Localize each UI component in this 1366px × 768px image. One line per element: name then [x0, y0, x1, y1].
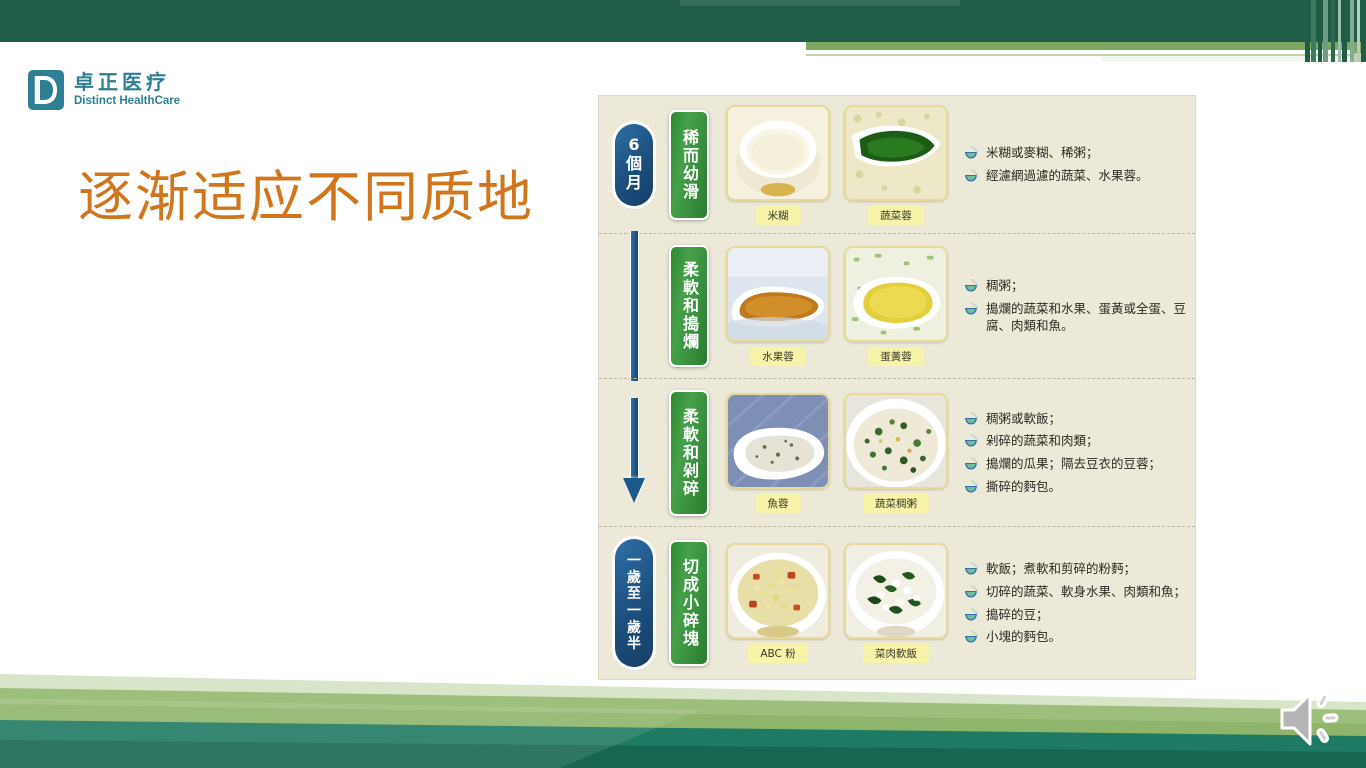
mortar-pestle-icon — [964, 608, 979, 621]
photo-caption: 魚蓉 — [756, 494, 801, 513]
row-rail — [599, 379, 669, 526]
row-rail: 一 歲 至 一 歲 半 — [599, 527, 669, 679]
vegetable-puree-photo — [844, 105, 948, 201]
photo-caption: 蛋黃蓉 — [868, 347, 924, 366]
mortar-pestle-icon — [964, 279, 979, 292]
mortar-pestle-icon — [964, 412, 979, 425]
mortar-pestle-icon — [964, 562, 979, 575]
top-band-notch-left — [0, 42, 806, 50]
progression-arrow-icon — [624, 231, 644, 381]
bullet-list: 稠粥或軟飯； 剁碎的蔬菜和肉類； 搗爛的瓜果；隔去豆衣的豆蓉； 撕碎的麪包。 — [948, 410, 1195, 496]
age-char: 月 — [626, 174, 642, 193]
bullet-item: 軟飯；煮軟和剪碎的粉麪； — [964, 560, 1187, 578]
chart-row: 6 個 月 稀而幼滑 米糊 — [599, 96, 1195, 233]
speaker-audio-icon[interactable] — [1268, 686, 1346, 752]
mortar-pestle-icon — [964, 434, 979, 447]
age-char: 歲 — [627, 570, 641, 587]
bullet-item: 搗爛的瓜果；隔去豆衣的豆蓉； — [964, 455, 1187, 473]
photo-cell: 米糊 — [726, 105, 830, 225]
bullet-text: 搗碎的豆； — [986, 606, 1049, 624]
right-edge-stripes — [1300, 0, 1366, 62]
bullet-item: 切碎的蔬菜、軟身水果、肉類和魚； — [964, 583, 1187, 601]
age-char: 6 — [628, 136, 639, 155]
vegetable-meat-soft-rice-photo — [844, 543, 948, 639]
top-band-highlight — [680, 0, 960, 6]
photo-group: 魚蓉 — [726, 393, 948, 513]
chart-row: 一 歲 至 一 歲 半 切成小碎塊 — [599, 526, 1195, 679]
bullet-text: 切碎的蔬菜、軟身水果、肉類和魚； — [986, 583, 1186, 601]
bottom-decorative-bands — [0, 658, 1366, 768]
age-char: 歲 — [627, 620, 641, 637]
vegetable-congee-photo — [844, 393, 948, 489]
feeding-texture-chart: 6 個 月 稀而幼滑 米糊 — [598, 95, 1196, 680]
bullet-item: 經濾網過濾的蔬菜、水果蓉。 — [964, 167, 1187, 185]
bullet-item: 米糊或麥糊、稀粥； — [964, 144, 1187, 162]
photo-cell: ABC 粉 — [726, 543, 830, 663]
bullet-item: 搗爛的蔬菜和水果、蛋黃或全蛋、豆腐、肉類和魚。 — [964, 300, 1187, 336]
bullet-list: 軟飯；煮軟和剪碎的粉麪； 切碎的蔬菜、軟身水果、肉類和魚； 搗碎的豆； 小塊的麪… — [948, 560, 1195, 646]
bullet-item: 稠粥； — [964, 277, 1187, 295]
bullet-text: 稠粥； — [986, 277, 1024, 295]
bullet-text: 經濾網過濾的蔬菜、水果蓉。 — [986, 167, 1149, 185]
mortar-pestle-icon — [964, 146, 979, 159]
photo-group: 米糊 蔬菜蓉 — [726, 105, 948, 225]
photo-caption: 蔬菜蓉 — [868, 206, 924, 225]
fruit-puree-spoon-photo — [726, 246, 830, 342]
bullet-text: 米糊或麥糊、稀粥； — [986, 144, 1099, 162]
mortar-pestle-icon — [964, 480, 979, 493]
bullet-list: 稠粥； 搗爛的蔬菜和水果、蛋黃或全蛋、豆腐、肉類和魚。 — [948, 277, 1195, 335]
photo-cell: 蔬菜蓉 — [844, 105, 948, 225]
photo-cell: 魚蓉 — [726, 393, 830, 513]
bullet-item: 剁碎的蔬菜和肉類； — [964, 432, 1187, 450]
mortar-pestle-icon — [964, 630, 979, 643]
age-char: 至 — [627, 586, 641, 603]
logo-name-en: Distinct HealthCare — [74, 96, 180, 108]
photo-cell: 蔬菜稠粥 — [844, 393, 948, 513]
bullet-item: 小塊的麪包。 — [964, 628, 1187, 646]
age-char: 一 — [627, 553, 641, 570]
top-band-thin-stripe-b — [806, 56, 1102, 62]
bullet-text: 搗爛的蔬菜和水果、蛋黃或全蛋、豆腐、肉類和魚。 — [986, 300, 1187, 336]
photo-cell: 水果蓉 — [726, 246, 830, 366]
chart-row: 柔軟和搗爛 水果蓉 — [599, 233, 1195, 378]
minced-fish-spoon-photo — [726, 393, 830, 489]
brand-logo: 卓正医疗 Distinct HealthCare — [27, 64, 217, 116]
page-title: 逐渐适应不同质地 — [78, 152, 534, 232]
rice-porridge-bowl-photo — [726, 105, 830, 201]
photo-caption: 水果蓉 — [750, 347, 806, 366]
bullet-item: 稠粥或軟飯； — [964, 410, 1187, 428]
top-band-notch-left-2 — [0, 50, 806, 62]
mortar-pestle-icon — [964, 169, 979, 182]
photo-cell: 蛋黃蓉 — [844, 246, 948, 366]
bullet-text: 剁碎的蔬菜和肉類； — [986, 432, 1099, 450]
chart-row: 柔軟和剁碎 — [599, 378, 1195, 526]
photo-cell: 菜肉軟飯 — [844, 543, 948, 663]
bullet-text: 搗爛的瓜果；隔去豆衣的豆蓉； — [986, 455, 1161, 473]
progression-arrow-head-icon — [624, 398, 644, 508]
photo-caption: 米糊 — [756, 206, 801, 225]
photo-caption: 蔬菜稠粥 — [863, 494, 929, 513]
photo-group: ABC 粉 — [726, 543, 948, 663]
logo-d-mark-icon — [27, 69, 65, 111]
age-badge-1-to-1.5-years: 一 歲 至 一 歲 半 — [615, 539, 653, 667]
top-band-thin-stripe-a — [806, 50, 1354, 54]
bullet-text: 小塊的麪包。 — [986, 628, 1061, 646]
mortar-pestle-icon — [964, 585, 979, 598]
egg-yolk-puree-spoon-photo — [844, 246, 948, 342]
texture-label: 柔軟和搗爛 — [669, 245, 709, 367]
row-rail: 6 個 月 — [599, 96, 669, 233]
top-band-dark-green — [0, 0, 1366, 42]
bullet-list: 米糊或麥糊、稀粥； 經濾網過濾的蔬菜、水果蓉。 — [948, 144, 1195, 185]
row-rail — [599, 234, 669, 378]
mortar-pestle-icon — [964, 457, 979, 470]
texture-label: 稀而幼滑 — [669, 110, 709, 220]
bullet-text: 軟飯；煮軟和剪碎的粉麪； — [986, 560, 1136, 578]
photo-group: 水果蓉 — [726, 246, 948, 366]
texture-label: 柔軟和剁碎 — [669, 390, 709, 516]
age-char: 一 — [627, 603, 641, 620]
logo-name-cn: 卓正医疗 — [74, 72, 180, 92]
mortar-pestle-icon — [964, 302, 979, 315]
age-badge-6-months: 6 個 月 — [615, 124, 653, 206]
bullet-text: 撕碎的麪包。 — [986, 478, 1061, 496]
bullet-item: 撕碎的麪包。 — [964, 478, 1187, 496]
age-char: 個 — [626, 155, 642, 174]
age-char: 半 — [627, 636, 641, 653]
bullet-item: 搗碎的豆； — [964, 606, 1187, 624]
abc-pasta-bowl-photo — [726, 543, 830, 639]
texture-label: 切成小碎塊 — [669, 540, 709, 666]
bullet-text: 稠粥或軟飯； — [986, 410, 1061, 428]
